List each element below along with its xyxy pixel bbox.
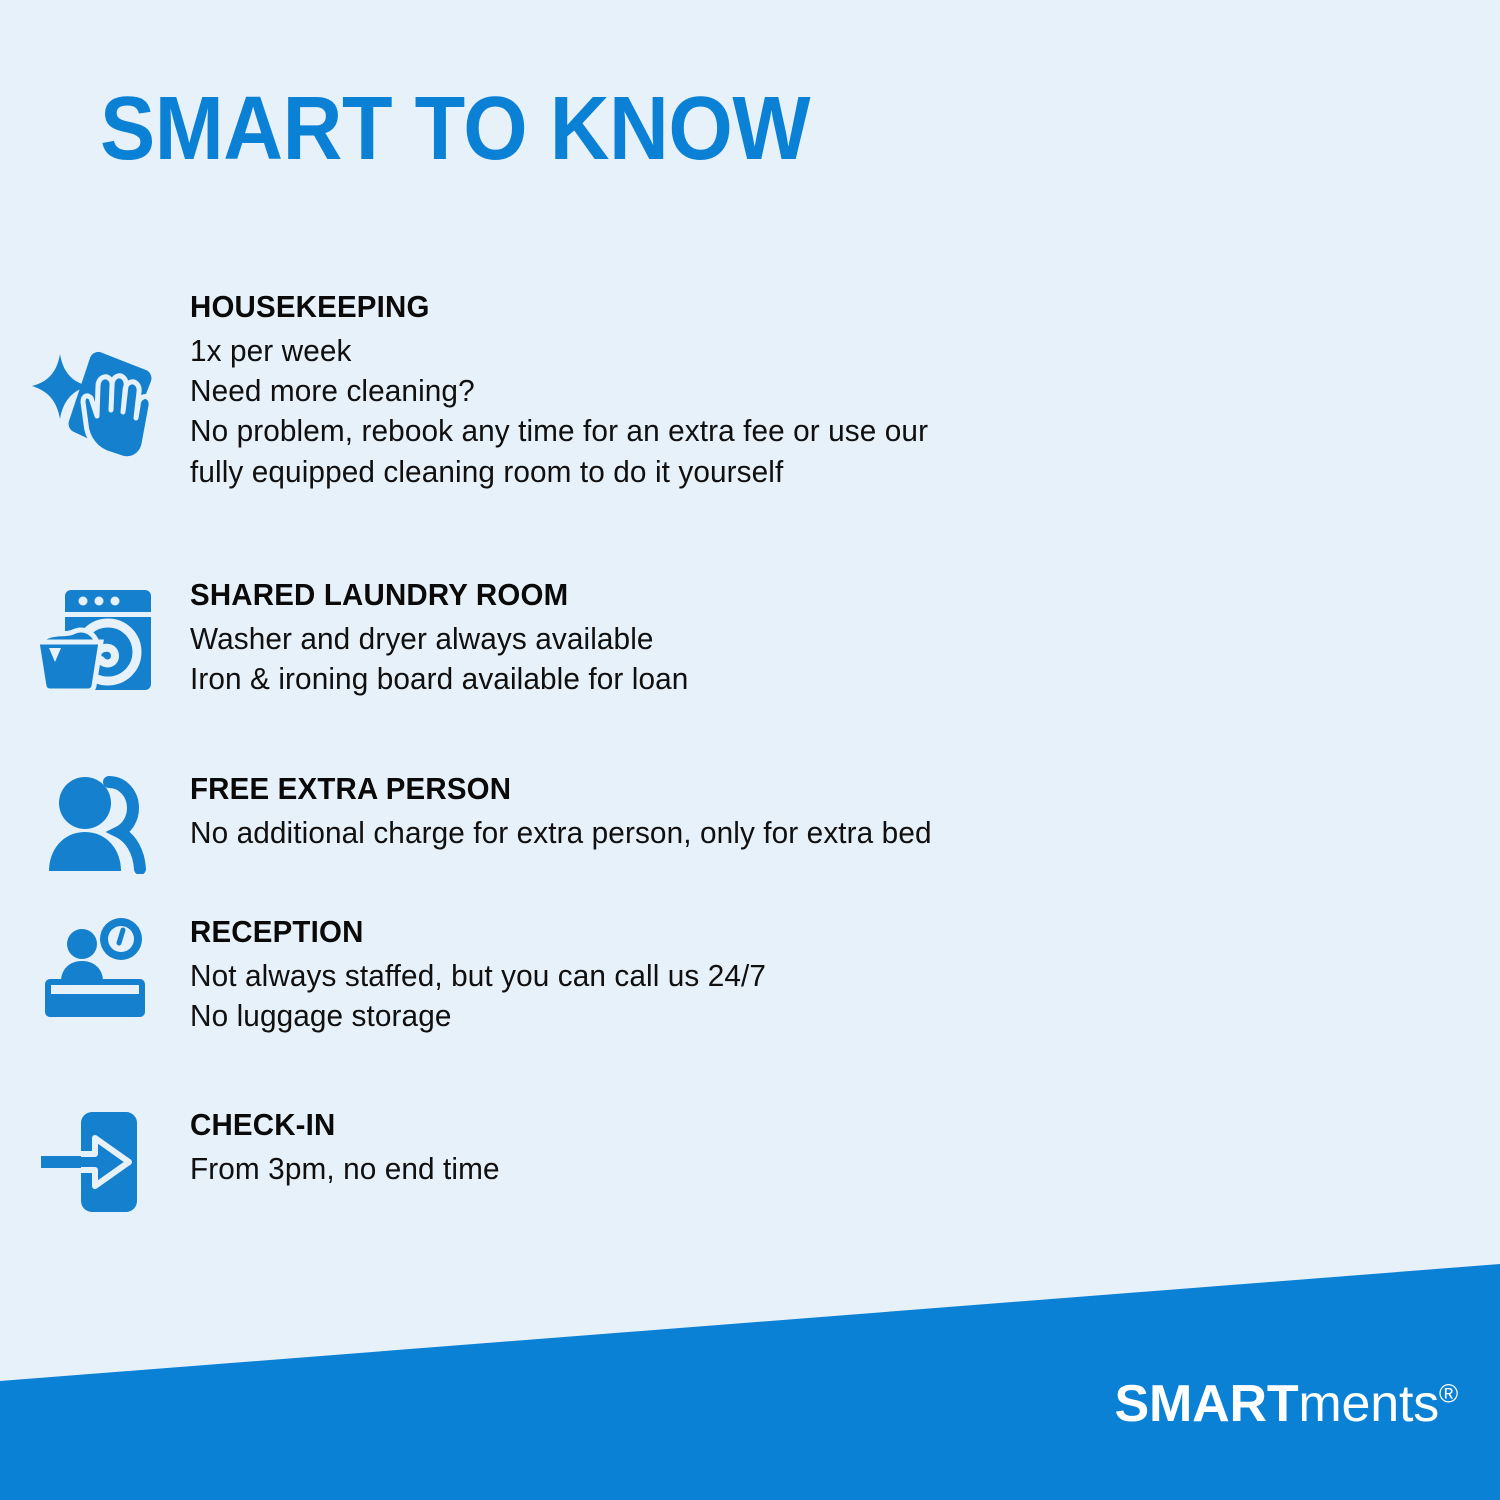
section-line: No luggage storage (190, 996, 1352, 1036)
info-section-laundry: SHARED LAUNDRY ROOM Washer and dryer alw… (0, 578, 1400, 699)
section-text-housekeeping: HOUSEKEEPING 1x per week Need more clean… (190, 290, 1400, 492)
section-title: SHARED LAUNDRY ROOM (190, 578, 1340, 613)
section-text-checkin: CHECK-IN From 3pm, no end time (190, 1108, 1400, 1189)
section-line: No problem, rebook any time for an extra… (190, 411, 1352, 451)
section-line: fully equipped cleaning room to do it yo… (190, 452, 1352, 492)
section-text-reception: RECEPTION Not always staffed, but you ca… (190, 915, 1400, 1036)
logo-regular-part: ments (1298, 1375, 1439, 1433)
washing-machine-basket-icon (0, 578, 190, 694)
page-title: SMART TO KNOW (100, 84, 810, 174)
info-section-housekeeping: HOUSEKEEPING 1x per week Need more clean… (0, 290, 1400, 492)
section-line: Not always staffed, but you can call us … (190, 956, 1352, 996)
smartments-logo: SMARTments® (1115, 1378, 1458, 1430)
door-enter-arrow-icon (0, 1108, 190, 1214)
section-title: RECEPTION (190, 915, 1340, 950)
section-line: Iron & ironing board available for loan (190, 659, 1352, 699)
cleaning-hand-sparkle-icon (0, 290, 190, 458)
info-section-extra-person: FREE EXTRA PERSON No additional charge f… (0, 772, 1400, 874)
section-text-laundry: SHARED LAUNDRY ROOM Washer and dryer alw… (190, 578, 1400, 699)
logo-bold-part: SMART (1115, 1375, 1299, 1433)
info-section-reception: RECEPTION Not always staffed, but you ca… (0, 915, 1400, 1036)
section-title: CHECK-IN (190, 1108, 1340, 1143)
section-title: HOUSEKEEPING (190, 290, 1340, 325)
section-line: No additional charge for extra person, o… (190, 813, 1352, 853)
poster-root: SMART TO KNOW HOUSEKEEPING 1x per week (0, 0, 1500, 1500)
info-section-checkin: CHECK-IN From 3pm, no end time (0, 1108, 1400, 1214)
reception-desk-clock-icon (0, 915, 190, 1019)
section-line: Washer and dryer always available (190, 619, 1352, 659)
two-people-icon (0, 772, 190, 874)
footer-blue-band (0, 0, 1500, 1500)
section-line: From 3pm, no end time (190, 1149, 1352, 1189)
section-title: FREE EXTRA PERSON (190, 772, 1340, 807)
section-line: Need more cleaning? (190, 371, 1352, 411)
section-text-extra-person: FREE EXTRA PERSON No additional charge f… (190, 772, 1400, 853)
section-line: 1x per week (190, 331, 1352, 371)
registered-trademark-icon: ® (1439, 1379, 1458, 1409)
